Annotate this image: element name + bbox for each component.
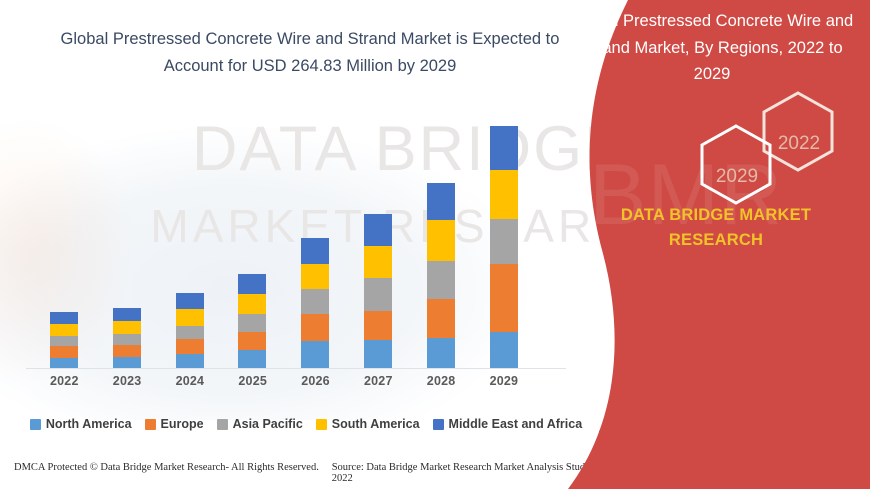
bar-segment	[301, 264, 329, 289]
chart-legend: North AmericaEuropeAsia PacificSouth Ame…	[0, 417, 612, 431]
bar-2027	[364, 214, 392, 368]
brand-line-1: DATA BRIDGE MARKET	[576, 203, 856, 228]
legend-swatch-icon	[145, 419, 156, 430]
legend-label: South America	[332, 417, 420, 431]
bar-segment	[176, 354, 204, 368]
background-wash-orange	[0, 120, 180, 450]
bar-2023	[113, 308, 141, 368]
bar-segment	[364, 246, 392, 278]
bar-segment	[50, 346, 78, 358]
x-axis-label-2023: 2023	[113, 374, 141, 388]
legend-swatch-icon	[316, 419, 327, 430]
bar-segment	[301, 289, 329, 313]
bar-2025	[238, 274, 266, 368]
bar-segment	[176, 339, 204, 354]
bar-segment	[238, 294, 266, 314]
bar-segment	[113, 308, 141, 321]
right-panel: DBMR Global Prestressed Concrete Wire an…	[550, 0, 870, 489]
bar-2024	[176, 293, 204, 368]
bar-segment	[50, 358, 78, 368]
bar-segment	[427, 220, 455, 261]
bar-segment	[490, 219, 518, 264]
bar-segment	[490, 264, 518, 332]
x-axis-label-2024: 2024	[176, 374, 204, 388]
bar-segment	[490, 126, 518, 170]
hexagon-2029-label: 2029	[702, 166, 772, 188]
bar-segment	[364, 311, 392, 340]
hexagon-group: 2022 2029	[646, 88, 866, 213]
legend-item-2[interactable]: Asia Pacific	[217, 417, 303, 431]
brand-name: DATA BRIDGE MARKET RESEARCH	[576, 203, 856, 253]
background-wash	[0, 60, 640, 420]
bar-segment	[113, 321, 141, 334]
legend-label: Europe	[161, 417, 204, 431]
legend-swatch-icon	[433, 419, 444, 430]
bar-segment	[50, 324, 78, 336]
footer-dmca-text: DMCA Protected © Data Bridge Market Rese…	[14, 462, 332, 484]
bar-segment	[364, 340, 392, 368]
bar-segment	[238, 350, 266, 368]
bar-segment	[364, 214, 392, 246]
legend-swatch-icon	[217, 419, 228, 430]
bar-segment	[490, 332, 518, 368]
bar-2029	[490, 126, 518, 368]
bar-segment	[176, 326, 204, 340]
bar-segment	[50, 312, 78, 324]
bar-segment	[50, 336, 78, 346]
hexagon-2022-label: 2022	[764, 133, 834, 155]
bar-segment	[238, 274, 266, 294]
x-axis-label-2027: 2027	[364, 374, 392, 388]
brand-line-2: RESEARCH	[576, 228, 856, 253]
bar-segment	[176, 293, 204, 309]
x-axis-line	[26, 368, 566, 369]
legend-item-1[interactable]: Europe	[145, 417, 204, 431]
bar-segment	[427, 261, 455, 299]
bar-segment	[301, 341, 329, 368]
bar-segment	[301, 238, 329, 263]
bar-segment	[427, 183, 455, 220]
bar-segment	[113, 357, 141, 368]
x-axis-label-2022: 2022	[50, 374, 78, 388]
x-axis-label-2029: 2029	[490, 374, 518, 388]
legend-item-3[interactable]: South America	[316, 417, 420, 431]
hexagon-2029	[702, 126, 770, 203]
legend-swatch-icon	[30, 419, 41, 430]
page-title: Global Prestressed Concrete Wire and Str…	[30, 26, 590, 79]
bar-segment	[113, 345, 141, 358]
bar-segment	[427, 338, 455, 368]
bar-segment	[113, 334, 141, 345]
footer: DMCA Protected © Data Bridge Market Rese…	[0, 462, 612, 484]
bar-segment	[238, 332, 266, 350]
legend-item-0[interactable]: North America	[30, 417, 132, 431]
x-axis-label-2026: 2026	[301, 374, 329, 388]
bar-segment	[301, 314, 329, 341]
x-axis-label-2028: 2028	[427, 374, 455, 388]
bar-2022	[50, 312, 78, 368]
bar-segment	[490, 170, 518, 218]
bar-segment	[427, 299, 455, 338]
right-panel-title: Global Prestressed Concrete Wire and Str…	[568, 8, 856, 88]
legend-label: North America	[46, 417, 132, 431]
bar-2028	[427, 183, 455, 368]
x-axis-label-2025: 2025	[238, 374, 266, 388]
bar-segment	[176, 309, 204, 325]
legend-label: Asia Pacific	[233, 417, 303, 431]
bar-2026	[301, 238, 329, 368]
infographic-slide: DATA BRIDGE MARKET RESEARCH Global Prest…	[0, 0, 870, 489]
bar-segment	[238, 314, 266, 332]
hexagon-2022	[764, 93, 832, 170]
chart-panel: DATA BRIDGE MARKET RESEARCH Global Prest…	[0, 0, 640, 489]
bar-segment	[364, 278, 392, 311]
